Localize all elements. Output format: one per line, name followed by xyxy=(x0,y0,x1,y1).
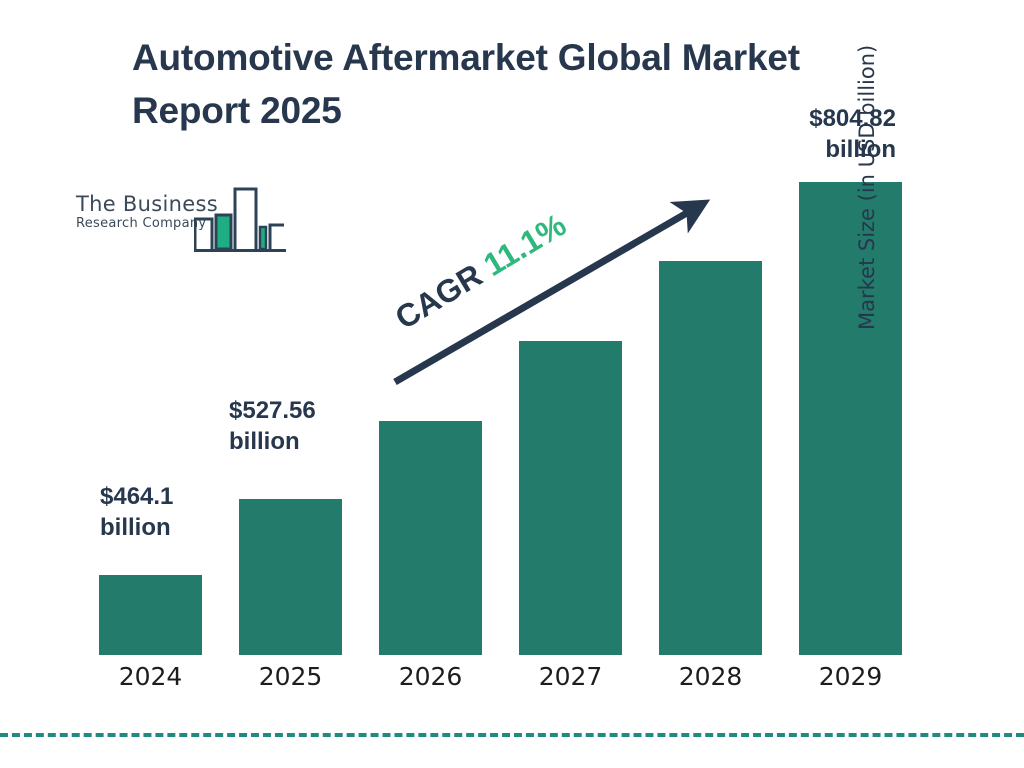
cagr-value: 11.1% xyxy=(477,206,572,283)
value-label-2025: $527.56 billion xyxy=(229,396,409,457)
cagr-annotation: CAGR 11.1% xyxy=(389,206,573,337)
bar-2029 xyxy=(799,182,902,655)
bar-2028 xyxy=(659,261,762,655)
bar-chart-logo-mark xyxy=(194,185,286,253)
bar-2024 xyxy=(99,575,202,655)
x-tick-2027: 2027 xyxy=(519,662,622,691)
company-logo: The Business Research Company xyxy=(76,185,286,255)
x-tick-2028: 2028 xyxy=(659,662,762,691)
value-label-2024: $464.1 billion xyxy=(100,482,250,543)
y-axis-title: Market Size (in USD billion) xyxy=(855,30,879,330)
cagr-label: CAGR xyxy=(389,257,488,336)
value-label-2024-amount: $464.1 xyxy=(100,482,250,513)
x-tick-2025: 2025 xyxy=(239,662,342,691)
bar-2025 xyxy=(239,499,342,655)
bar-2027 xyxy=(519,341,622,655)
footer-divider xyxy=(0,733,1024,737)
value-label-2025-amount: $527.56 xyxy=(229,396,409,427)
chart-canvas: Automotive Aftermarket Global Market Rep… xyxy=(0,0,1024,768)
value-label-2024-unit: billion xyxy=(100,513,250,544)
x-tick-2029: 2029 xyxy=(799,662,902,691)
x-tick-2026: 2026 xyxy=(379,662,482,691)
value-label-2025-unit: billion xyxy=(229,427,409,458)
x-tick-2024: 2024 xyxy=(99,662,202,691)
